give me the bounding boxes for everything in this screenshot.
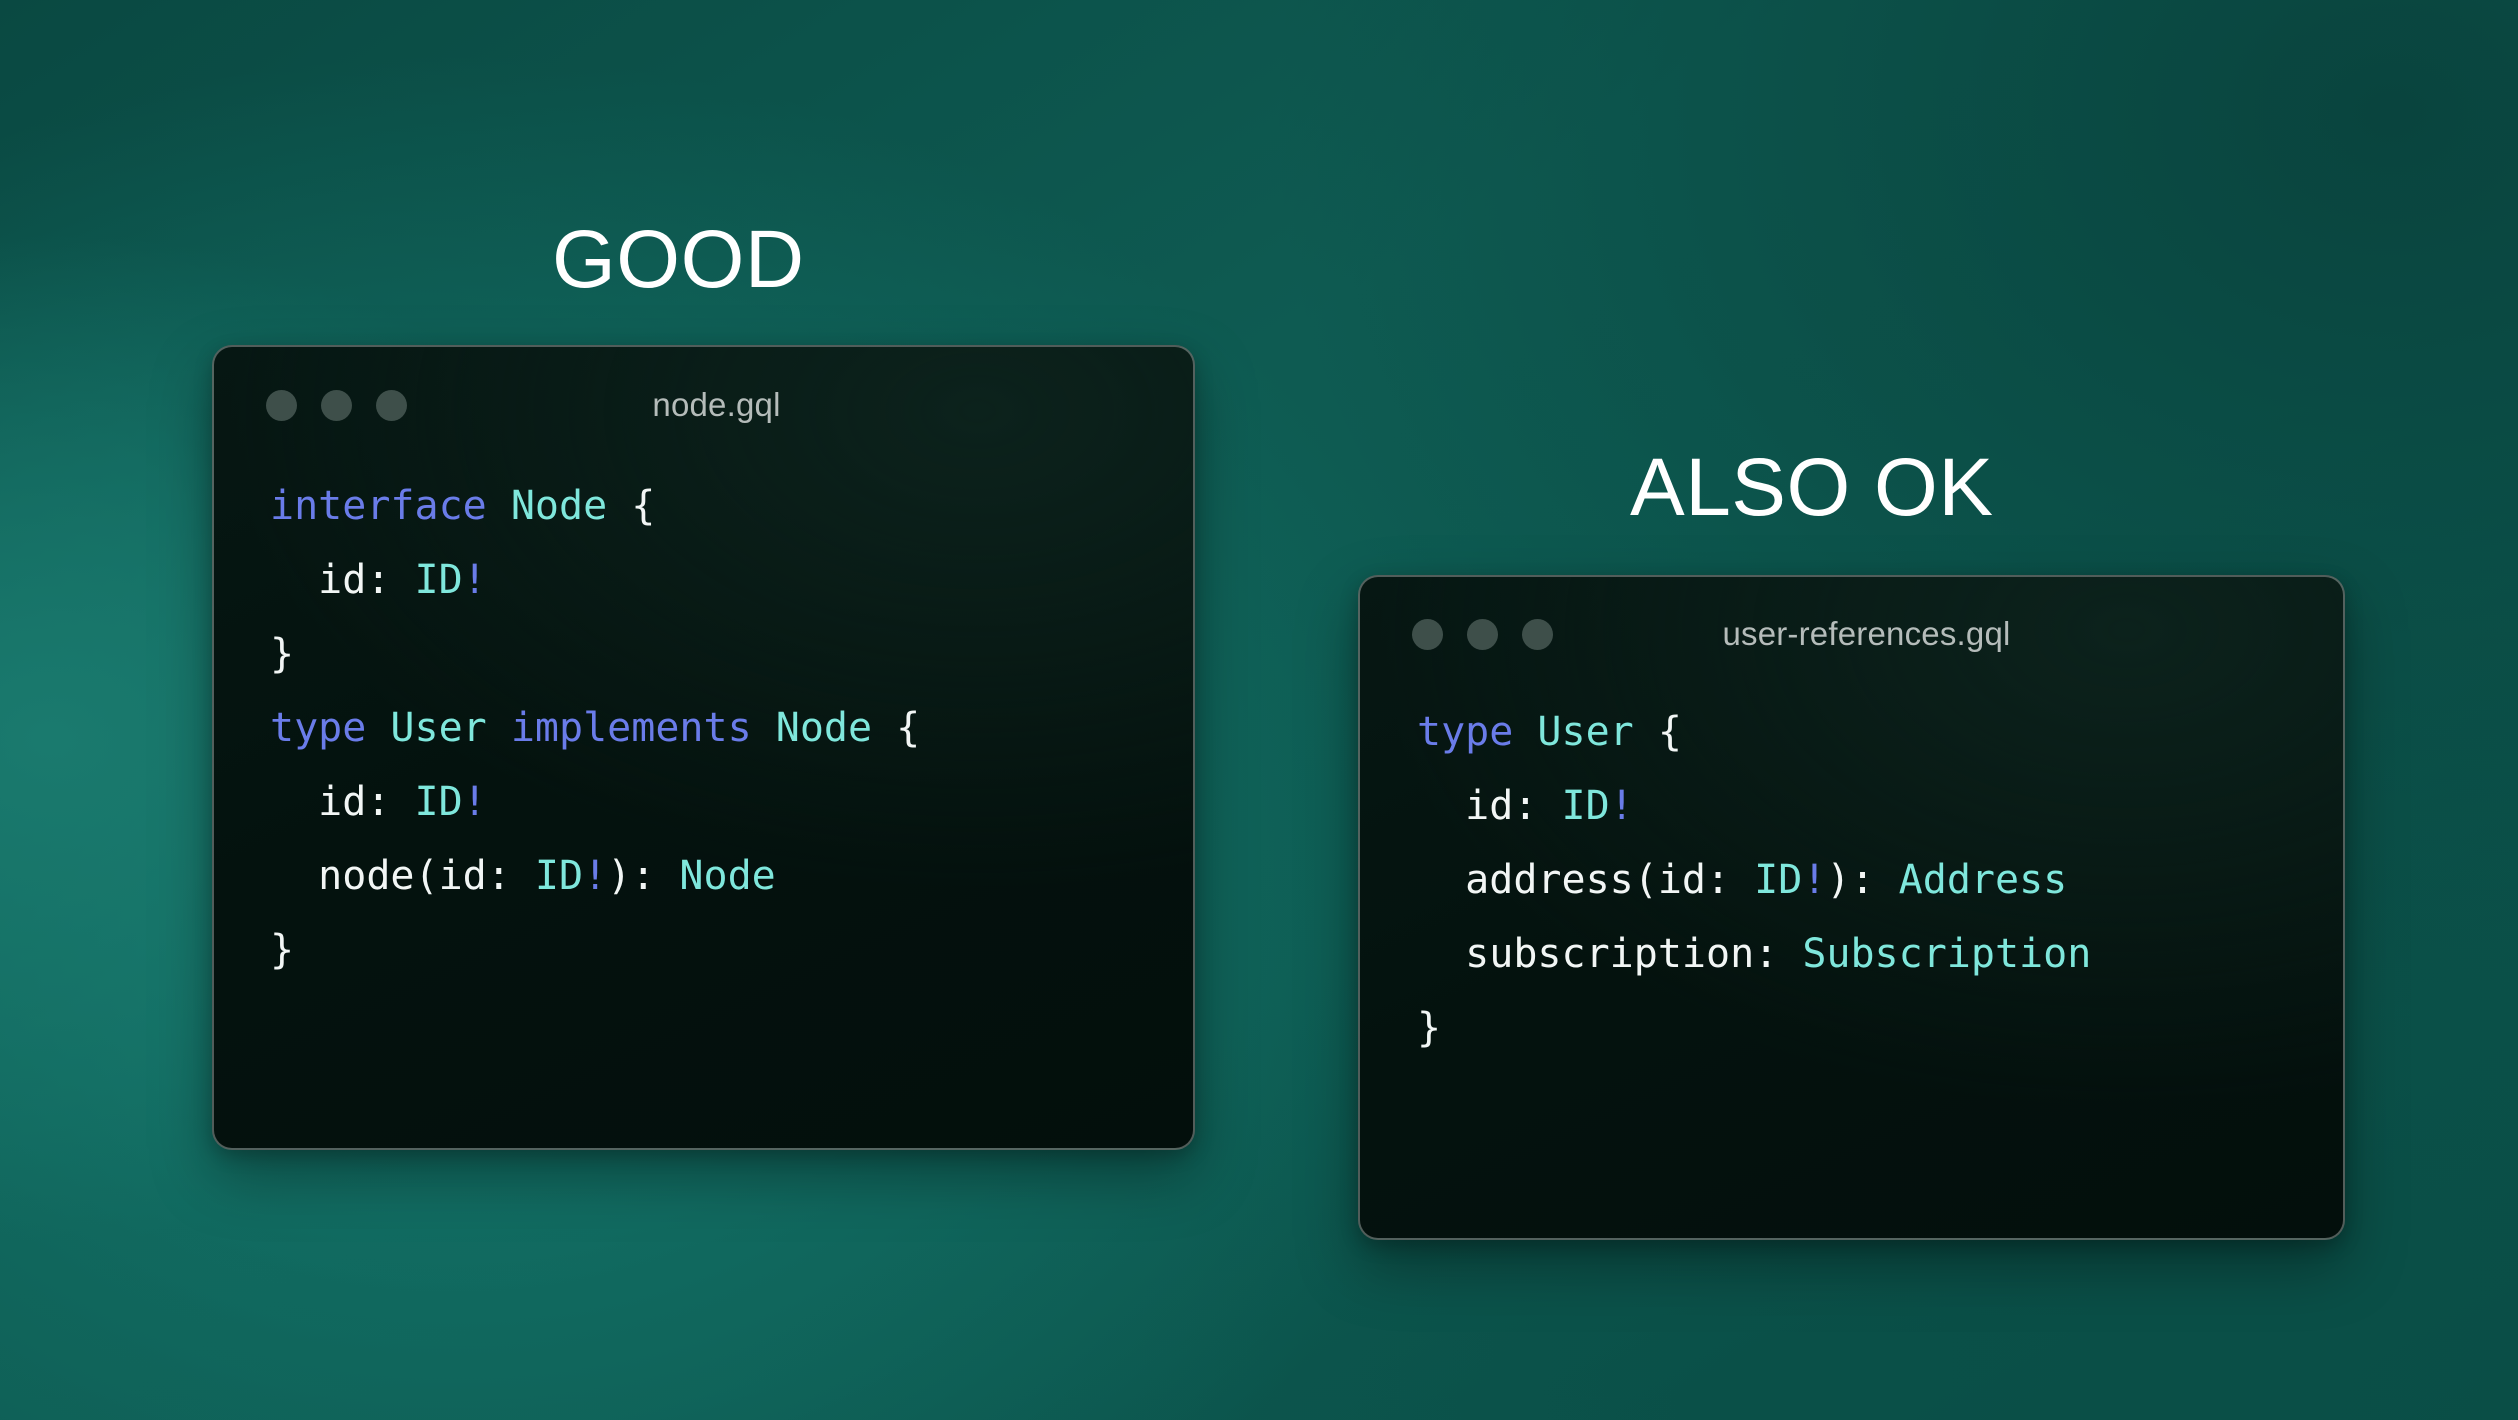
code-token-plain: ):	[1826, 857, 1898, 903]
section-label-good: GOOD	[552, 212, 805, 308]
code-line: }	[270, 913, 1193, 987]
code-token-type: Subscription	[1802, 931, 2091, 977]
code-token-punct: }	[1417, 1005, 1441, 1051]
code-line: id: ID!	[1417, 769, 2343, 843]
code-token-type: User	[1537, 709, 1633, 755]
code-line: id: ID!	[270, 543, 1193, 617]
code-line: type User {	[1417, 695, 2343, 769]
code-token-type: ID	[1562, 783, 1610, 829]
code-window-user-references-gql: user-references.gql type User { id: ID! …	[1358, 575, 2345, 1240]
code-token-plain: id:	[270, 557, 415, 603]
code-token-type: Node	[679, 853, 775, 899]
code-window-node-gql: node.gql interface Node { id: ID!}type U…	[212, 345, 1195, 1150]
code-token-plain: subscription:	[1417, 931, 1802, 977]
code-token-plain: node(id:	[270, 853, 535, 899]
code-token-plain: id:	[1417, 783, 1562, 829]
close-dot-icon[interactable]	[266, 390, 297, 421]
code-token-punct: {	[872, 705, 920, 751]
code-token-bang: !	[463, 557, 487, 603]
code-line: id: ID!	[270, 765, 1193, 839]
code-token-plain: id:	[270, 779, 415, 825]
code-token-keyword: type	[270, 705, 390, 751]
code-token-plain: ):	[607, 853, 679, 899]
code-content: type User { id: ID! address(id: ID!): Ad…	[1360, 691, 2343, 1065]
code-token-type: Node	[511, 483, 607, 529]
code-token-keyword: type	[1417, 709, 1537, 755]
code-token-type: Node	[776, 705, 872, 751]
section-label-also-ok: ALSO OK	[1630, 440, 1994, 536]
code-token-punct: {	[607, 483, 655, 529]
code-token-type: ID	[415, 557, 463, 603]
traffic-lights	[1412, 619, 1553, 650]
code-token-bang: !	[1802, 857, 1826, 903]
code-line: }	[1417, 991, 2343, 1065]
code-token-type: ID	[1754, 857, 1802, 903]
title-bar: node.gql	[214, 347, 1193, 463]
title-bar: user-references.gql	[1360, 577, 2343, 691]
code-token-bang: !	[463, 779, 487, 825]
code-token-type: ID	[415, 779, 463, 825]
code-token-punct: {	[1634, 709, 1682, 755]
code-line: type User implements Node {	[270, 691, 1193, 765]
traffic-lights	[266, 390, 407, 421]
maximize-dot-icon[interactable]	[376, 390, 407, 421]
code-line: address(id: ID!): Address	[1417, 843, 2343, 917]
minimize-dot-icon[interactable]	[1467, 619, 1498, 650]
minimize-dot-icon[interactable]	[321, 390, 352, 421]
code-content: interface Node { id: ID!}type User imple…	[214, 463, 1193, 987]
code-token-keyword: interface	[270, 483, 511, 529]
code-token-type: ID	[535, 853, 583, 899]
code-line: node(id: ID!): Node	[270, 839, 1193, 913]
maximize-dot-icon[interactable]	[1522, 619, 1553, 650]
code-token-punct: }	[270, 927, 294, 973]
close-dot-icon[interactable]	[1412, 619, 1443, 650]
code-line: }	[270, 617, 1193, 691]
code-token-keyword: implements	[487, 705, 776, 751]
code-token-plain: address(id:	[1417, 857, 1754, 903]
code-token-type: User	[390, 705, 486, 751]
code-token-bang: !	[583, 853, 607, 899]
code-token-type: Address	[1899, 857, 2068, 903]
code-line: interface Node {	[270, 469, 1193, 543]
code-token-bang: !	[1610, 783, 1634, 829]
code-token-punct: }	[270, 631, 294, 677]
code-line: subscription: Subscription	[1417, 917, 2343, 991]
